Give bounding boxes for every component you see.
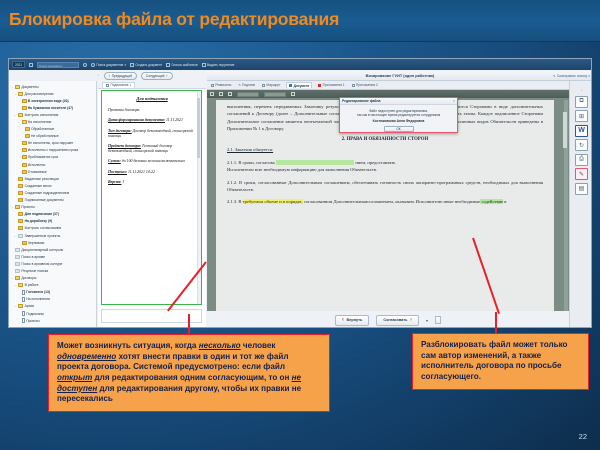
chevron-right-icon: › [166,74,168,79]
page-field[interactable] [237,92,259,97]
refresh-icon[interactable]: ↻ [575,139,588,151]
clause-text: 2.1.1. В сроки, согласова [227,160,275,165]
tree-item[interactable]: Обработанные [10,126,95,133]
chevron-down-icon: ▾ [588,74,590,78]
ribbon-item-label: Поиск документов [96,63,123,67]
tree-item-label: Выданные резолюции [25,177,59,181]
tree-item-label: Для рассмотрения [25,92,54,96]
tree-item-label: Приближается срок [28,155,58,159]
ribbon-item-create-doc[interactable]: Создать документ [130,63,162,67]
signing-field: Версия: 1 [108,180,196,185]
new-doc-icon [130,63,134,67]
tree-item[interactable]: Черновики [10,239,95,246]
clause-highlight-text: требуемом объеме и в порядке, [243,199,303,204]
dialog-message-line-2: так как в настоящее время редактируется … [344,113,453,118]
signing-field: Проекты договора [108,108,196,113]
leader-line-right-vertical [495,312,497,335]
next-button[interactable]: Следующий › [141,72,173,80]
tree-item-label: Не обработанные [31,134,59,138]
folder-open-icon [15,85,20,89]
signing-field-label: Сумма: [108,159,121,163]
signing-panel: Подписание ▾ Для подписания Проекты дого… [98,81,206,328]
document-side-toolbar: ⌃ ⧉ ⊞ W ↻ ⎙ ✎ ▤ [569,81,592,328]
scrollbar-thumb[interactable] [197,98,201,158]
tree-item[interactable]: −Проекты [10,204,95,211]
record-window-caption: Визирование ГУИТ (один работник) ✎ Скопи… [207,71,592,81]
scrollbar-thumb[interactable] [563,112,567,148]
folder-icon [22,141,27,145]
tree-item-label: Завершенные проекты [25,234,61,238]
attachment-2-icon [352,84,355,87]
return-button[interactable]: ‹ Вернуть [335,315,369,326]
folder-icon [15,248,20,252]
slide-root: Блокировка файла от редактирования 2021 … [0,0,600,450]
word-icon[interactable]: W [575,125,588,137]
link-icon: ✎ [553,74,556,78]
attachment-1-icon [318,84,321,87]
folder-icon [18,177,23,181]
tab-label: Приложения 1 [323,83,345,87]
callout-emphasis: одновременно [57,352,116,361]
folder-icon [25,134,30,138]
tree-item[interactable]: Не исполнены, срок нарушен [10,140,95,147]
tree-item[interactable]: −Архив [10,303,95,310]
ribbon-item-label: Выдать поручение [207,63,235,67]
signing-card-body: Для подписания Проекты договора Дата фор… [102,91,201,185]
tree-item-label: Результат поиска [21,269,48,273]
tree-item[interactable]: Не обработанные [10,133,95,140]
folder-icon [22,241,27,245]
tab-label: Подписание [111,83,129,87]
list-icon [166,63,170,67]
tree-item-label: Документы [21,85,38,89]
tree-item[interactable]: Результат поиска [10,267,95,274]
tab-label: Маршрут [266,83,280,87]
signing-field-label: Тип договора: [108,129,132,133]
print-icon[interactable]: ⎙ [575,154,588,166]
signing-card-heading: Для подписания [108,96,196,101]
tree-item-label: Дисциплинарный контроль [21,248,63,252]
collapse-icon[interactable]: ⌃ [580,89,583,93]
tree-item[interactable]: Подписанные документы [10,197,95,204]
tree-item[interactable]: Дисциплинарный контроль [10,246,95,253]
callout-emphasis: открыт [57,373,92,382]
tree-item[interactable]: В электронном виде (40) [10,97,95,104]
tree-item-label: В электронном виде (40) [28,99,69,103]
tree-item[interactable]: Готовится (13) [10,289,95,296]
tree-item-label: Архив [25,304,34,308]
tree-item[interactable]: Отозванные [10,168,95,175]
ribbon-item-assign[interactable]: Выдать поручение [202,63,235,67]
signing-field: Предмет договора: Тестовый договор безво… [108,144,196,154]
signing-field-value: Проекты договора [108,108,139,112]
slide-page-number: 22 [579,432,587,441]
tree-expander-icon[interactable]: − [14,92,17,96]
signing-field-value: 1 [121,180,124,184]
dialog-title: Редактирование файла [342,99,380,103]
tab-attachments-2[interactable]: Приложения 2 [351,83,379,87]
file-locked-dialog: Редактирование файла × Файл недоступен д… [339,97,458,133]
route-icon [262,84,265,87]
add-document-icon[interactable]: ⊞ [575,110,588,122]
folder-icon [22,155,27,159]
tree-item[interactable]: Исполнены с нарушением срока [10,147,95,154]
tree-item[interactable]: −Для рассмотрения [10,90,95,97]
folder-icon [22,163,27,167]
search-input[interactable]: Поиск документа [37,62,79,68]
folder-icon [18,226,23,230]
signing-card: Для подписания Проекты договора Дата фор… [101,90,202,305]
document-clause-2-1-1: 2.1.1. В сроки, согласова нием, предоста… [227,159,543,174]
signing-field: Сумма: до 100 базовых величин включитель… [108,159,196,164]
edit-icon[interactable]: ✎ [575,168,588,180]
tree-item[interactable]: Проекты [10,317,95,324]
tree-item-label: Исполнены с нарушением срока [28,148,78,152]
folder-open-icon [18,92,23,96]
clause-text: в [503,199,506,204]
approve-label: Согласовать [383,318,407,322]
tree-item-label: На исполнении [26,297,50,301]
signing-panel-tabrow: Подписание ▾ [98,81,206,89]
callout-text: Разблокировать файл может только сам авт… [421,340,567,381]
clause-text: согласованном Дополнительным [303,199,368,204]
tree-item[interactable]: Контроль согласования [10,225,95,232]
tree-item-label: Поиск в архиве [21,255,45,259]
document-clause-2-1-2: 2.1.2. В сроки, согласованные Дополнител… [227,179,543,194]
tree-item-label: Для подписания (37) [25,212,59,216]
chevron-left-icon: ‹ [342,317,344,323]
tab-label: Подписи [242,83,255,87]
tree-item-label: Подписаны [26,312,44,316]
signing-field-label: Поступил: [108,170,127,174]
dialog-ok-button[interactable]: ОК [384,126,414,133]
callout-left: Может возникнуть ситуация, когда несколь… [48,334,330,412]
previous-button[interactable]: ‹ Предыдущий [104,72,137,80]
print-icon[interactable] [219,92,223,96]
tree-item[interactable]: Подписаны [10,310,95,317]
dialog-employee-name: Костюковская Анна Федоровна [344,119,453,123]
folder-open-icon [22,120,27,124]
folder-icon [15,262,20,266]
tree-item-label: На исполнении [28,120,52,124]
tab-signatures[interactable]: ✎ Подписи [237,83,256,87]
chevron-down-icon[interactable]: ▾ [426,318,428,323]
clause-highlight-text: содействие [480,199,503,204]
record-navigation: ⌃ ‹ Предыдущий Следующий › [97,71,207,81]
tree-expander-icon[interactable]: − [14,304,17,308]
chevron-down-icon: ▾ [130,84,131,87]
tree-item[interactable]: Выданные резолюции [10,175,95,182]
dialog-body: Файл недоступен для редактирования, так … [340,105,457,132]
folder-icon [25,127,30,131]
page-title: Блокировка файла от редактирования [9,9,339,30]
folder-icon [18,212,23,216]
tree-item[interactable]: Приближается срок [10,154,95,161]
signing-field-value: 11.11.2021 14:22 [127,170,155,174]
signing-field-value: до 100 базовых величин включительно [121,159,185,163]
folder-icon [22,170,27,174]
chevron-down-icon: ▾ [124,63,126,67]
chevron-left-icon: ‹ [109,74,111,79]
clause-highlight [276,160,354,165]
document-icon [22,297,26,302]
close-icon[interactable]: × [453,99,455,103]
copy-icon[interactable]: ⧉ [575,96,588,108]
tree-item[interactable]: На доработку (9) [10,218,95,225]
tab-label: Документ [294,84,310,88]
folder-open-icon [18,283,23,287]
tab-attachments-1[interactable]: Приложения 1 [317,83,345,87]
tree-item[interactable]: Созданные подразделением [10,189,95,196]
compare-icon[interactable]: ▤ [575,183,588,195]
tree-item[interactable]: Созданные мною [10,182,95,189]
clause-text: Исполнителю всю необходимую информацию д… [227,167,377,172]
dropdown-icon[interactable] [29,63,33,67]
tree-item-label: Контроль исполнения [25,113,59,117]
app-ribbon: 2021 Поиск документа Поиск документов ▾ … [9,59,592,70]
tree-expander-icon[interactable]: − [11,205,14,209]
signing-field-label: Версия: [108,180,121,184]
record-title: Визирование ГУИТ (один работник) [366,73,435,78]
dialog-titlebar: Редактирование файла × [340,98,457,105]
signing-panel-footer [101,309,202,323]
tree-item[interactable]: −Контроль исполнения [10,111,95,118]
attachment-button[interactable] [435,316,441,324]
chevron-right-icon: › [410,317,412,323]
tree-item-label: Созданные мною [25,184,52,188]
ribbon-item-templates[interactable]: Список шаблонов [166,63,198,67]
tab-label: Приложения 2 [356,83,378,87]
tree-expander-icon[interactable]: − [14,283,17,287]
year-badge[interactable]: 2021 [12,61,25,68]
document-icon [22,290,26,295]
tree-item-label: Обработанные [31,127,54,131]
tree-item[interactable]: Поиск в архивном контуре [10,260,95,267]
folder-icon [18,219,23,223]
folder-icon [15,255,20,259]
tree-expander-icon[interactable]: − [14,113,17,117]
tab-document[interactable]: Документ [286,82,312,88]
zoom-field[interactable] [264,92,286,97]
document-page: выполнения, перечень передаваемых Заказч… [216,100,554,322]
tree-item[interactable]: На бумажном носителе (47) [10,104,95,111]
assign-icon [202,63,206,67]
document-section-heading: 2. ПРАВА И ОБЯЗАННОСТИ СТОРОН [227,137,543,142]
signing-field: Тип договора: Договор безвозмездной, спо… [108,129,196,139]
tree-item-label: Проекты [26,319,39,323]
signing-field-value: 11.11.2021 [165,118,183,122]
tree-item-label: На бумажном носителе (47) [28,106,73,110]
folder-icon [18,184,23,188]
search-docs-icon [91,63,95,67]
folder-icon [22,106,27,110]
tree-item-label: Отозванные [28,170,47,174]
requisites-icon [211,84,214,87]
record-tabs: Реквизиты ✎ Подписи Маршрут Документ При… [207,81,592,90]
tree-item-label: Исполнены [28,163,46,167]
document-viewer: выполнения, перечень передаваемых Заказч… [207,90,569,328]
document-icon [22,311,26,316]
tree-item-label: На доработку (9) [25,219,52,223]
tree-item[interactable]: −Завершенные проекты [10,232,95,239]
clause-text: нием, предоставлять [355,160,395,165]
next-label: Следующий [146,74,165,78]
tab-route[interactable]: Маршрут [261,83,281,87]
callout-emphasis: несколько [199,341,241,350]
tree-item[interactable]: Для подписания (37) [10,211,95,218]
signing-field: Поступил: 11.11.2021 14:22 [108,170,196,175]
folder-icon [18,198,23,202]
tree-item[interactable]: −Документы [10,83,95,90]
tab-requisites[interactable]: Реквизиты [210,83,232,87]
folder-open-icon [15,205,20,209]
callout-text: человек [241,341,276,350]
tree-item[interactable]: −Договоры [10,275,95,282]
document-clause-2-1-3: 2.1.3. В требуемом объеме и в порядке, с… [227,198,543,205]
tree-item[interactable]: На исполнении [10,296,95,303]
folder-icon [22,148,27,152]
save-icon[interactable] [210,92,214,96]
folder-icon [18,191,23,195]
collapse-icon[interactable]: ⌃ [97,74,100,78]
callout-right: Разблокировать файл может только сам авт… [412,333,589,390]
folder-tree[interactable]: −Документы−Для рассмотренияВ электронном… [9,81,97,328]
document-scrollbar[interactable] [564,100,568,322]
annotate-icon[interactable] [291,92,295,96]
tree-expander-icon[interactable]: − [11,85,14,89]
return-label: Вернуть [347,318,363,322]
tree-item-label: Проекты [21,205,34,209]
tab-signing[interactable]: Подписание ▾ [102,82,135,88]
callout-text: Может возникнуть ситуация, когда [57,341,199,350]
signing-field: Дата формирования документа: 11.11.2021 [108,118,196,123]
approve-button[interactable]: Согласовать › [376,315,419,326]
record-action-bar: ‹ Вернуть Согласовать › ▾ [207,311,569,328]
tree-item-label: Договоры [21,276,36,280]
previous-label: Предыдущий [112,74,132,78]
document-clause-2-1: 2.1. Заказчик обязуется: [227,146,543,153]
folder-open-icon [18,113,23,117]
leader-line-left-vertical [188,314,190,335]
signing-field-label: Предмет договора: [108,144,141,148]
folder-icon [18,234,23,238]
tab-label: Реквизиты [215,83,231,87]
folder-icon [15,269,20,273]
tree-item-label: Контроль согласования [25,226,62,230]
slide-title-bar: Блокировка файла от редактирования [0,0,600,42]
tree-item[interactable]: Поиск в архиве [10,253,95,260]
tree-item-label: Готовится (13) [26,290,50,294]
tree-item[interactable]: −В работе [10,282,95,289]
tree-item-label: Созданные подразделением [25,191,69,195]
pen-icon: ✎ [238,83,241,87]
tree-item[interactable]: −На исполнении [10,118,95,125]
application-window: 2021 Поиск документа Поиск документов ▾ … [8,58,592,328]
tree-expander-icon[interactable]: − [17,120,20,124]
ribbon-item-search-docs[interactable]: Поиск документов ▾ [91,63,126,67]
tree-expander-icon[interactable]: − [11,276,14,280]
folder-open-icon [18,304,23,308]
tree-item-label: Не исполнены, срок нарушен [28,141,73,145]
clause-text: соглашением, оказывать Исполнителю иные … [367,199,480,204]
document-icon [289,84,292,87]
ribbon-item-label: Список шаблонов [171,63,197,67]
clause-text: 2.1.3. В [227,199,243,204]
copy-link-label: Скопировать ссылку [557,74,587,78]
tree-item-label: Подписанные документы [25,198,64,202]
copy-link-button[interactable]: ✎ Скопировать ссылку ▾ [553,74,590,78]
ribbon-item-label: Создать документ [135,63,162,67]
callout-text: для редактирования одним согласующим, то… [92,373,291,382]
signing-icon [106,84,109,87]
document-icon [22,318,26,323]
tree-item-label: Поиск в архивном контуре [21,262,62,266]
folder-icon [22,99,27,103]
tree-expander-icon[interactable]: − [14,234,17,238]
tree-item-label: В работе [25,283,39,287]
tree-item-label: Черновики [28,241,45,245]
zoom-icon[interactable] [228,92,232,96]
signing-field-label: Дата формирования документа: [108,118,165,122]
folder-open-icon [15,276,20,280]
tree-item[interactable]: Исполнены [10,161,95,168]
search-icon[interactable] [83,63,87,67]
